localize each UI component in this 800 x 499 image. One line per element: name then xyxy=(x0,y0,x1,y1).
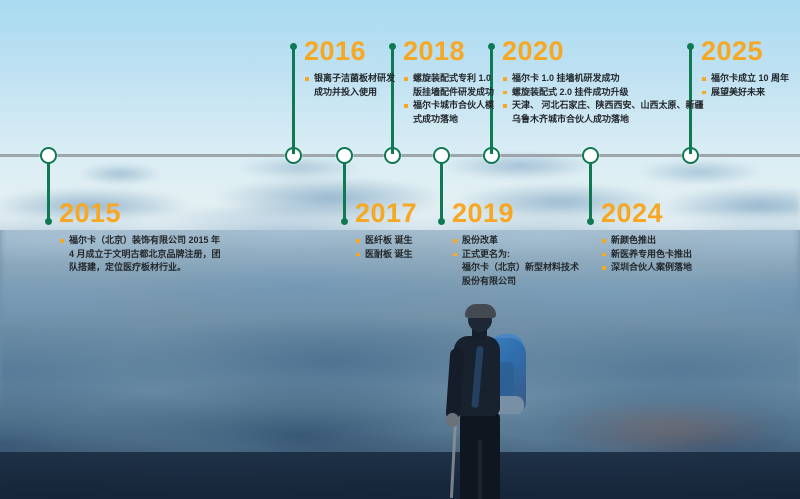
timeline-bullet: 式成功落地 xyxy=(403,113,494,127)
timeline-bullets-2020: 福尔卡 1.0 挂墙机研发成功螺旋装配式 2.0 挂件成功升级天津、 河北石家庄… xyxy=(502,72,704,126)
timeline-bullets-2019: 股份改革正式更名为:福尔卡（北京）新型材料技术股份有限公司 xyxy=(452,234,579,288)
timeline-bullet: 版挂墙配件研发成功 xyxy=(403,86,494,100)
timeline-bullet: 福尔卡 1.0 挂墙机研发成功 xyxy=(502,72,704,86)
timeline-year-2017: 2017 xyxy=(355,200,417,227)
timeline-year-2015: 2015 xyxy=(59,200,221,227)
timeline-stem-tip-2019 xyxy=(438,218,445,225)
timeline-stem-2017 xyxy=(343,162,346,222)
timeline-entry-2015[interactable]: 2015福尔卡（北京）装饰有限公司 2015 年4 月成立于文明古都北京品牌注册… xyxy=(59,200,221,275)
timeline-bullet: 乌鲁木齐城市合伙人成功落地 xyxy=(502,113,704,127)
timeline-bullets-2018: 螺旋装配式专利 1.0版挂墙配件研发成功福尔卡城市合伙人模式成功落地 xyxy=(403,72,494,126)
timeline-stem-tip-2024 xyxy=(587,218,594,225)
timeline-stem-2019 xyxy=(440,162,443,222)
timeline-stem-2016 xyxy=(292,46,295,154)
timeline-bullet: 螺旋装配式 2.0 挂件成功升级 xyxy=(502,86,704,100)
timeline-year-2024: 2024 xyxy=(601,200,692,227)
timeline-bullet: 新颜色推出 xyxy=(601,234,692,248)
timeline-bullet: 股份改革 xyxy=(452,234,579,248)
timeline-year-2018: 2018 xyxy=(403,38,494,65)
timeline-bullet: 福尔卡（北京）新型材料技术 xyxy=(452,261,579,275)
timeline-year-2020: 2020 xyxy=(502,38,704,65)
timeline-bullet: 展望美好未来 xyxy=(701,86,789,100)
timeline-bullet: 股份有限公司 xyxy=(452,275,579,289)
timeline: 2015福尔卡（北京）装饰有限公司 2015 年4 月成立于文明古都北京品牌注册… xyxy=(0,0,800,499)
timeline-bullets-2015: 福尔卡（北京）装饰有限公司 2015 年4 月成立于文明古都北京品牌注册，团队搭… xyxy=(59,234,221,275)
timeline-stem-tip-2015 xyxy=(45,218,52,225)
timeline-entry-2016[interactable]: 2016银离子洁菌板材研发成功并投入使用 xyxy=(304,38,395,99)
timeline-bullet: 福尔卡成立 10 周年 xyxy=(701,72,789,86)
timeline-stem-tip-2017 xyxy=(341,218,348,225)
timeline-bullets-2016: 银离子洁菌板材研发成功并投入使用 xyxy=(304,72,395,99)
timeline-bullets-2025: 福尔卡成立 10 周年展望美好未来 xyxy=(701,72,789,99)
timeline-bullet: 福尔卡（北京）装饰有限公司 2015 年 xyxy=(59,234,221,248)
timeline-bullet: 成功并投入使用 xyxy=(304,86,395,100)
timeline-bullet: 深圳合伙人案例落地 xyxy=(601,261,692,275)
timeline-entry-2018[interactable]: 2018螺旋装配式专利 1.0版挂墙配件研发成功福尔卡城市合伙人模式成功落地 xyxy=(403,38,494,126)
timeline-entry-2024[interactable]: 2024新颜色推出新医养专用色卡推出深圳合伙人案例落地 xyxy=(601,200,692,275)
timeline-bullet: 4 月成立于文明古都北京品牌注册，团 xyxy=(59,248,221,262)
timeline-stem-tip-2016 xyxy=(290,43,297,50)
timeline-year-2019: 2019 xyxy=(452,200,579,227)
timeline-bullets-2017: 医纤板 诞生医耐板 诞生 xyxy=(355,234,417,261)
timeline-bullet: 正式更名为: xyxy=(452,248,579,262)
timeline-entry-2020[interactable]: 2020福尔卡 1.0 挂墙机研发成功螺旋装配式 2.0 挂件成功升级天津、 河… xyxy=(502,38,704,126)
timeline-bullet: 医耐板 诞生 xyxy=(355,248,417,262)
timeline-infographic: 2015福尔卡（北京）装饰有限公司 2015 年4 月成立于文明古都北京品牌注册… xyxy=(0,0,800,499)
timeline-bullet: 螺旋装配式专利 1.0 xyxy=(403,72,494,86)
timeline-bullet: 银离子洁菌板材研发 xyxy=(304,72,395,86)
timeline-entry-2017[interactable]: 2017医纤板 诞生医耐板 诞生 xyxy=(355,200,417,261)
timeline-entry-2019[interactable]: 2019股份改革正式更名为:福尔卡（北京）新型材料技术股份有限公司 xyxy=(452,200,579,288)
timeline-year-2025: 2025 xyxy=(701,38,789,65)
timeline-bullet: 队搭建，定位医疗板材行业。 xyxy=(59,261,221,275)
timeline-stem-2024 xyxy=(589,162,592,222)
timeline-bullets-2024: 新颜色推出新医养专用色卡推出深圳合伙人案例落地 xyxy=(601,234,692,275)
timeline-bullet: 天津、 河北石家庄、陕西西安、山西太原、新疆 xyxy=(502,99,704,113)
timeline-bullet: 医纤板 诞生 xyxy=(355,234,417,248)
timeline-stem-2015 xyxy=(47,162,50,222)
timeline-entry-2025[interactable]: 2025福尔卡成立 10 周年展望美好未来 xyxy=(701,38,789,99)
timeline-year-2016: 2016 xyxy=(304,38,395,65)
timeline-bullet: 福尔卡城市合伙人模 xyxy=(403,99,494,113)
timeline-bullet: 新医养专用色卡推出 xyxy=(601,248,692,262)
